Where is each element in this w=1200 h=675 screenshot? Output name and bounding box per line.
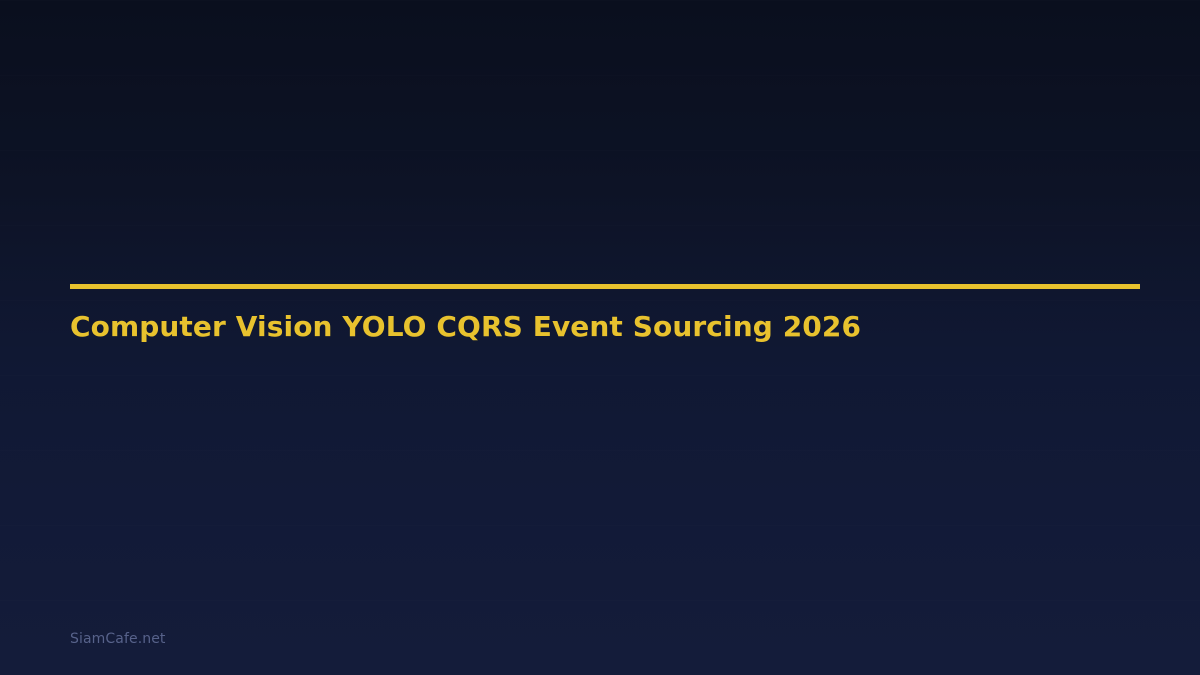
page-title: Computer Vision YOLO CQRS Event Sourcing…	[70, 289, 1140, 344]
title-block: Computer Vision YOLO CQRS Event Sourcing…	[70, 284, 1140, 344]
presentation-slide: Computer Vision YOLO CQRS Event Sourcing…	[0, 0, 1200, 675]
footer-brand-label: SiamCafe.net	[70, 629, 166, 649]
